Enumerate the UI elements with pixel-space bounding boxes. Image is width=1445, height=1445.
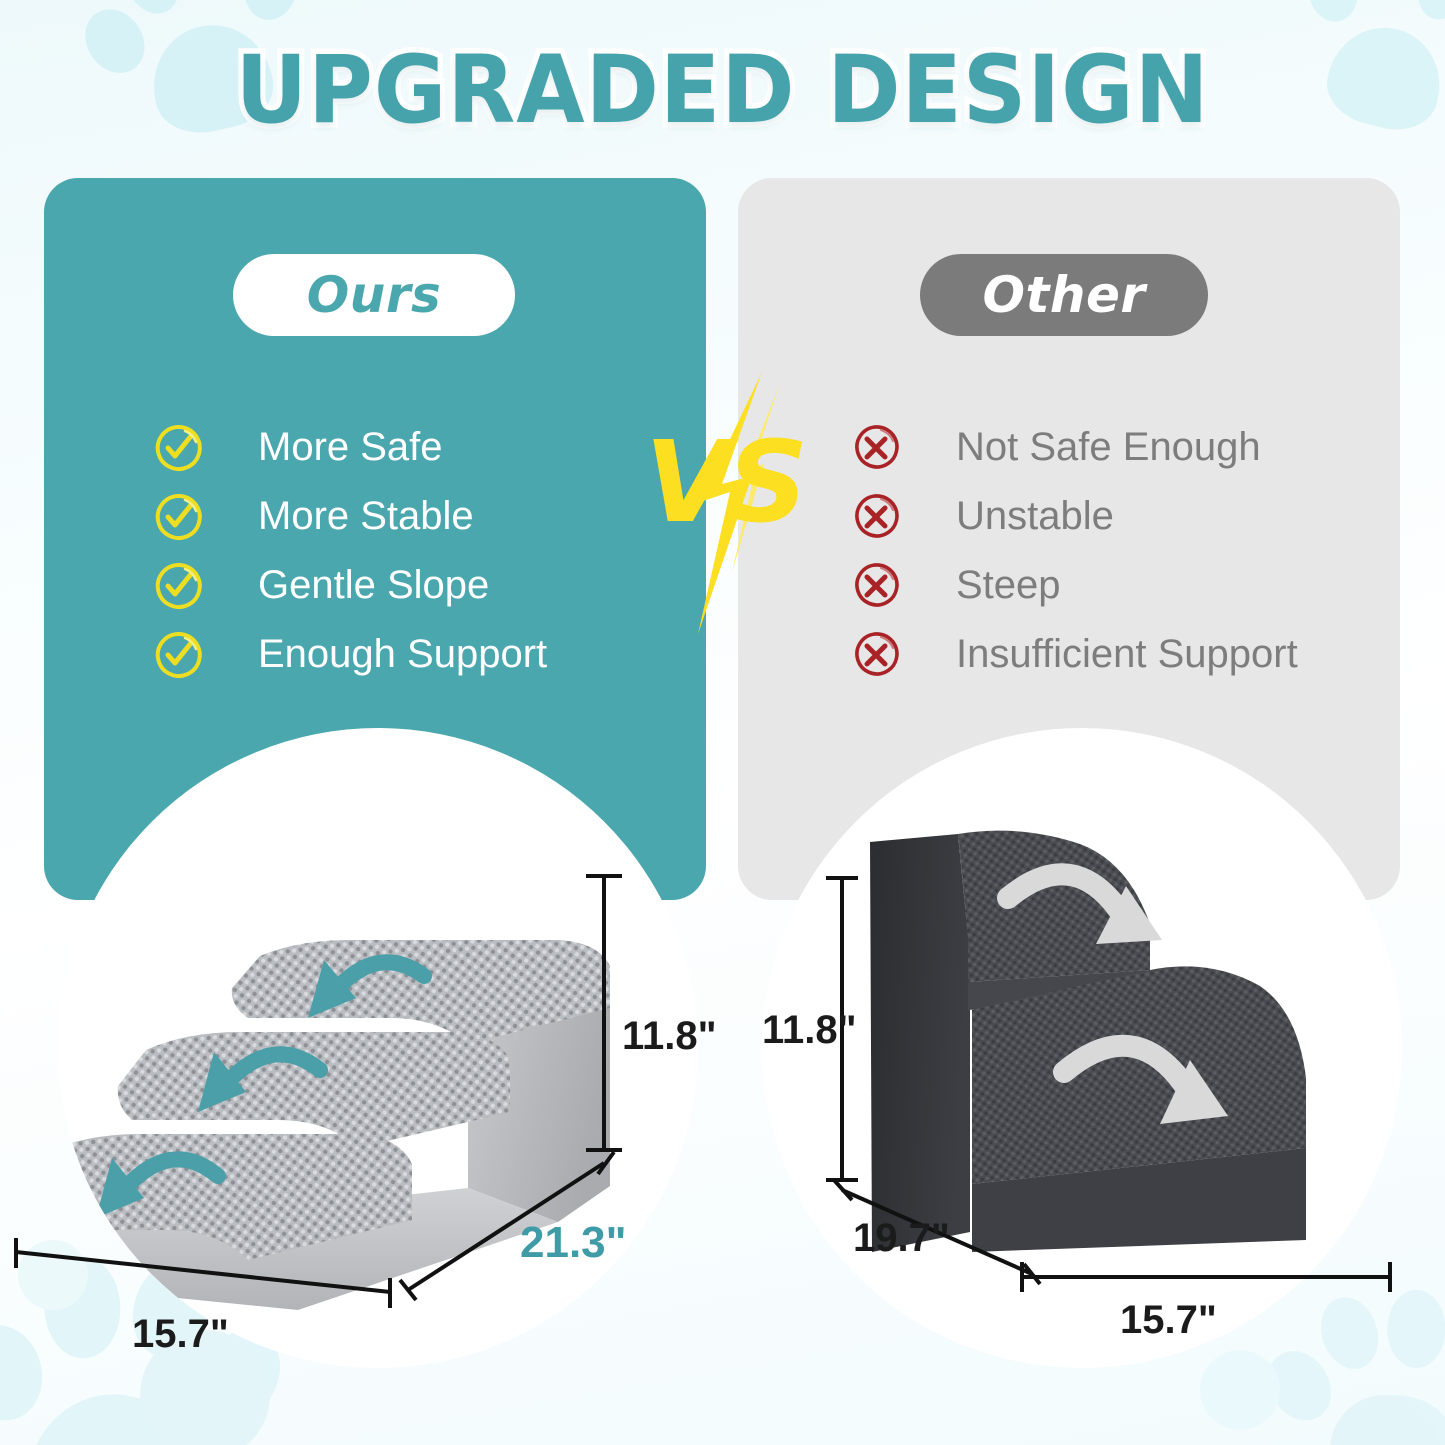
other-feature-list: Not Safe Enough Unstable Steep <box>850 413 1298 689</box>
list-item: Unstable <box>850 482 1298 551</box>
decorative-blob <box>1330 1395 1440 1445</box>
list-item-label: Gentle Slope <box>258 563 489 608</box>
list-item: More Safe <box>152 413 547 482</box>
list-item: Insufficient Support <box>850 620 1298 689</box>
other-width-dimension: 15.7" <box>1120 1298 1217 1343</box>
ours-width-dimension: 15.7" <box>132 1312 229 1357</box>
check-circle-icon <box>152 560 204 612</box>
check-circle-icon <box>152 422 204 474</box>
cross-circle-icon <box>850 629 902 681</box>
list-item: Gentle Slope <box>152 551 547 620</box>
cross-circle-icon <box>850 422 902 474</box>
ours-height-dimension: 11.8" <box>622 1014 717 1059</box>
other-product-photo <box>762 728 1402 1368</box>
list-item: Steep <box>850 551 1298 620</box>
ours-feature-list: More Safe More Stable Gentle Slo <box>152 413 547 689</box>
list-item-label: Insufficient Support <box>956 632 1298 677</box>
list-item-label: Steep <box>956 563 1061 608</box>
other-height-dimension: 11.8" <box>762 1008 857 1053</box>
three-step-pet-stairs-illustration <box>58 836 698 1368</box>
ours-product-photo <box>58 728 698 1368</box>
cross-circle-icon <box>850 491 902 543</box>
check-circle-icon <box>152 629 204 681</box>
list-item: Enough Support <box>152 620 547 689</box>
list-item: More Stable <box>152 482 547 551</box>
list-item-label: Not Safe Enough <box>956 425 1261 470</box>
other-pill-label: Other <box>920 254 1208 336</box>
other-depth-dimension: 19.7" <box>853 1216 950 1261</box>
page-title: UPGRADED DESIGN <box>43 36 1401 145</box>
infographic-canvas: UPGRADED DESIGN Ours More Safe <box>0 0 1445 1445</box>
list-item-label: More Stable <box>258 494 474 539</box>
check-circle-icon <box>152 491 204 543</box>
list-item-label: Unstable <box>956 494 1114 539</box>
list-item: Not Safe Enough <box>850 413 1298 482</box>
decorative-blob <box>1200 1350 1280 1430</box>
list-item-label: More Safe <box>258 425 443 470</box>
cross-circle-icon <box>850 560 902 612</box>
list-item-label: Enough Support <box>258 632 547 677</box>
ours-depth-dimension: 21.3" <box>520 1218 627 1268</box>
ours-pill-label: Ours <box>233 254 515 336</box>
